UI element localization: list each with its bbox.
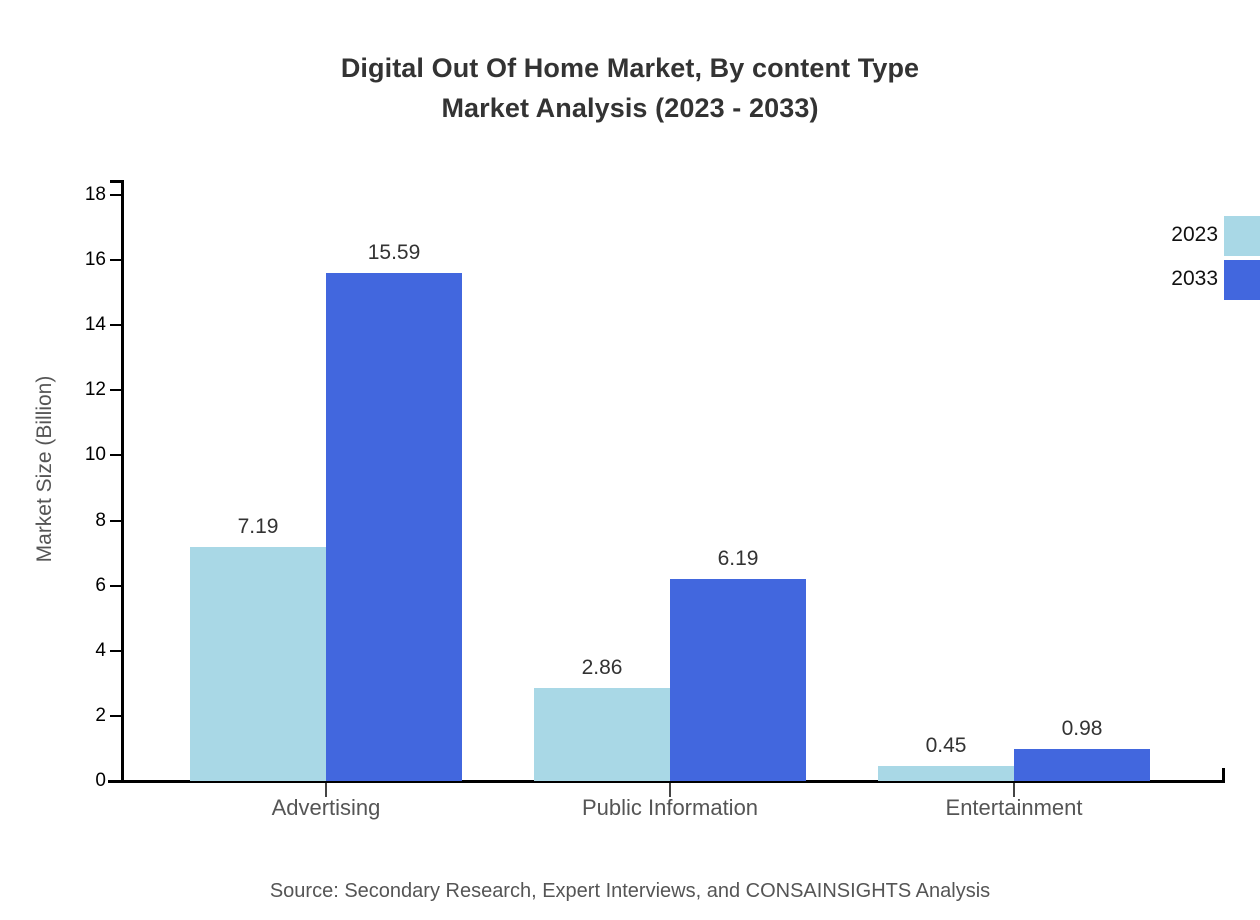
chart-title-line-2: Market Analysis (2023 - 2033) [0,88,1260,128]
y-axis-tick [110,650,122,652]
y-axis-tick-label: 10 [46,445,106,464]
x-axis-category-label: Public Information [500,793,840,823]
y-axis-tick-label: 16 [46,250,106,269]
y-axis-tick-label: 8 [46,511,106,530]
x-axis-category-label: Advertising [156,793,496,823]
y-axis-tick [110,194,122,196]
y-axis-tick [110,520,122,522]
legend-swatch-2033 [1224,260,1260,300]
legend-label: 2023 [1130,223,1218,247]
y-axis-tick [110,324,122,326]
y-axis-tick-label: 14 [46,315,106,334]
bar-2023-advertising[interactable] [190,547,326,781]
source-note: Source: Secondary Research, Expert Inter… [0,878,1260,904]
x-axis-category-label: Entertainment [844,793,1184,823]
y-axis-tick [110,715,122,717]
y-axis-tick [110,389,122,391]
y-axis-tick [110,259,122,261]
y-axis-tick-label: 6 [46,576,106,595]
legend-item-2033[interactable]: 2033 [1130,260,1260,304]
legend-swatch-2023 [1224,216,1260,256]
legend-item-2023[interactable]: 2023 [1130,216,1260,260]
x-axis-right-cap [1222,768,1225,783]
bar-value-label: 0.98 [982,718,1182,740]
legend-label: 2033 [1130,267,1218,291]
y-axis-line [121,180,124,783]
bar-2023-public-information[interactable] [534,688,670,781]
bar-2033-public-information[interactable] [670,579,806,781]
y-axis-tick-label: 12 [46,380,106,399]
y-axis-title: Market Size (Billion) [33,319,57,619]
y-axis-tick [110,454,122,456]
bar-chart: Digital Out Of Home Market, By content T… [0,0,1260,920]
y-axis-tick-label: 0 [46,771,106,790]
bar-value-label: 6.19 [638,548,838,570]
y-axis-tick [110,585,122,587]
y-axis-tick-label: 4 [46,641,106,660]
y-axis-tick-label: 18 [46,185,106,204]
bar-value-label: 15.59 [294,242,494,264]
chart-title-line-1: Digital Out Of Home Market, By content T… [341,53,919,83]
bar-2023-entertainment[interactable] [878,766,1014,781]
y-axis-tick-label: 2 [46,706,106,725]
chart-legend: 20232033 [1130,216,1260,312]
bar-2033-advertising[interactable] [326,273,462,781]
chart-title: Digital Out Of Home Market, By content T… [0,48,1260,128]
y-axis-top-cap [110,180,122,183]
y-axis-tick [110,780,122,782]
bar-2033-entertainment[interactable] [1014,749,1150,781]
